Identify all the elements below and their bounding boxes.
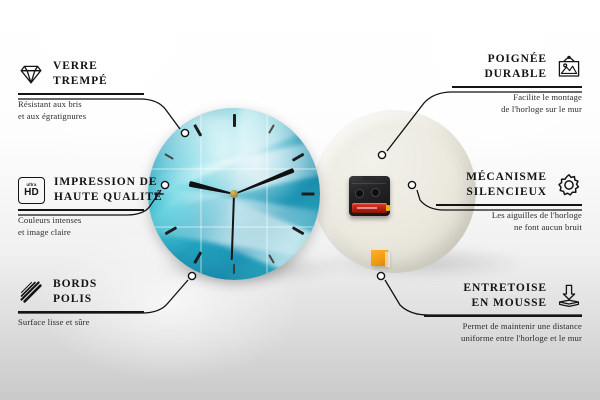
feature-subtitle: Facilite le montage de l'horloge sur le …: [452, 91, 582, 115]
feature-title: ENTRETOISE EN MOUSSE: [463, 281, 547, 311]
mechanism-dial-right: [371, 188, 380, 197]
wall-hanger-icon: [556, 54, 582, 80]
feature-verre-trempe[interactable]: VERRE TREMPÉ Résistant aux bris et aux é…: [18, 59, 144, 122]
feature-divider: [18, 311, 144, 312]
foam-spacer: [371, 250, 388, 266]
foam-spacer-icon: [556, 283, 582, 309]
feather-streak: [157, 134, 320, 209]
diamond-icon: [18, 61, 44, 87]
feature-divider: [18, 209, 144, 210]
feature-title: MÉCANISME SILENCIEUX: [466, 170, 547, 200]
polished-edges-icon: [18, 279, 44, 305]
feature-subtitle: Résistant aux bris et aux égratignures: [18, 98, 144, 122]
hour-tick-1: [268, 124, 275, 134]
hour-tick-10: [164, 153, 174, 160]
feature-header: BORDS POLIS: [18, 277, 144, 307]
hour-tick-5: [268, 254, 275, 264]
feature-poignee-durable[interactable]: POIGNÉE DURABLE Facilite le montage de l…: [452, 52, 582, 115]
battery: [352, 203, 387, 213]
feature-header: ultra HD IMPRESSION DE HAUTE QUALITÉ: [18, 175, 144, 205]
mechanism-hanger-tab: [363, 176, 376, 180]
feature-mecanisme-silencieux[interactable]: MÉCANISME SILENCIEUX Les aiguilles de l'…: [436, 170, 582, 233]
feature-subtitle: Couleurs intenses et image claire: [18, 214, 144, 238]
feature-title: IMPRESSION DE HAUTE QUALITÉ: [54, 175, 163, 205]
hour-tick-3: [301, 193, 314, 196]
feature-title: VERRE TREMPÉ: [53, 59, 108, 89]
gear-icon: [556, 172, 582, 198]
feature-header: POIGNÉE DURABLE: [452, 52, 582, 82]
feature-header: ENTRETOISE EN MOUSSE: [424, 281, 582, 311]
feature-entretoise-mousse[interactable]: ENTRETOISE EN MOUSSE Permet de maintenir…: [424, 281, 582, 344]
feather-streak: [228, 108, 320, 236]
feature-divider: [452, 86, 582, 87]
print-grid-line: [148, 168, 320, 170]
feature-title: BORDS POLIS: [53, 277, 97, 307]
feature-divider: [18, 93, 144, 94]
feature-subtitle: Surface lisse et sûre: [18, 316, 144, 328]
feature-bords-polis[interactable]: BORDS POLIS Surface lisse et sûre: [18, 277, 144, 328]
feature-divider: [436, 204, 582, 205]
feature-header: VERRE TREMPÉ: [18, 59, 144, 89]
badge-hd-label: HD: [24, 188, 39, 198]
hour-tick-2: [291, 153, 304, 162]
mechanism-dial-left: [355, 189, 364, 198]
infographic-canvas: VERRE TREMPÉ Résistant aux bris et aux é…: [0, 0, 600, 400]
battery-positive-cap: [386, 205, 390, 211]
feature-title: POIGNÉE DURABLE: [484, 52, 547, 82]
hour-hand: [189, 181, 235, 197]
mechanism-seam: [352, 183, 386, 184]
feature-subtitle: Les aiguilles de l'horloge ne font aucun…: [436, 209, 582, 233]
hour-tick-12: [233, 114, 236, 127]
clock-center-cap: [230, 190, 238, 198]
feature-divider: [424, 315, 582, 316]
feature-impression-hd[interactable]: ultra HD IMPRESSION DE HAUTE QUALITÉ Cou…: [18, 175, 144, 238]
battery-label-band: [357, 207, 377, 209]
clock-face: [148, 108, 320, 280]
feature-header: MÉCANISME SILENCIEUX: [436, 170, 582, 200]
hour-tick-6: [233, 264, 235, 274]
minute-hand: [233, 168, 294, 197]
ultra-hd-badge-icon: ultra HD: [18, 177, 45, 204]
feature-subtitle: Permet de maintenir une distance uniform…: [424, 320, 582, 344]
